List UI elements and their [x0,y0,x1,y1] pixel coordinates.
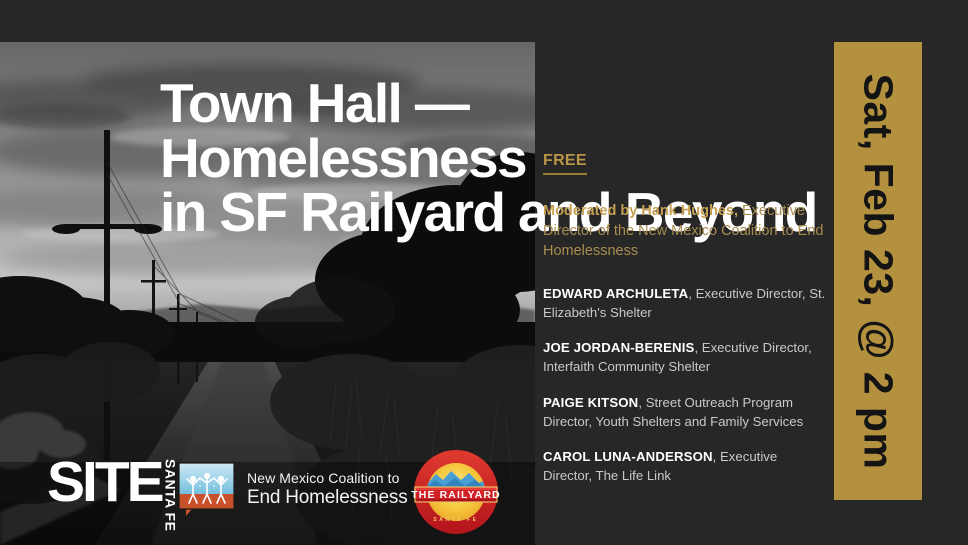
speaker-name: EDWARD ARCHULETA [543,286,688,301]
speaker-name: PAIGE KITSON [543,395,638,410]
logo-site-santa-fe: SITE SANTA FE [47,459,178,531]
speaker-separator: , [688,286,692,301]
moderator-separator: , [734,203,738,219]
speaker-item: EDWARD ARCHULETA, Executive Director, St… [543,285,828,322]
site-sublabel: SANTA FE [164,459,178,531]
nm-coalition-wordmark: New Mexico Coalition to End Homelessness [247,471,408,508]
event-details: FREE Moderated by Hank Hughes, Executive… [543,152,828,486]
logo-nm-coalition: New Mexico Coalition to End Homelessness [178,462,408,517]
sponsor-logo-row: SITE SANTA FE [0,445,535,545]
speaker-item: CAROL LUNA-ANDERSON, Executive Director,… [543,448,828,485]
admission-badge: FREE [543,152,587,175]
svg-text:SANTA FE: SANTA FE [433,517,478,523]
speaker-separator: , [694,340,698,355]
speaker-name: JOE JORDAN-BERENIS [543,340,694,355]
speaker-separator: , [638,395,642,410]
nm-coalition-mark-icon [178,462,235,517]
svg-text:THE RAILYARD: THE RAILYARD [411,489,500,501]
event-poster: Town Hall — Homelessness in SF Railyard … [0,0,968,545]
speaker-name: CAROL LUNA-ANDERSON [543,449,713,464]
moderator-block: Moderated by Hank Hughes, Executive Dire… [543,201,828,261]
nm-coalition-line-1: New Mexico Coalition to [247,471,408,487]
nm-coalition-line-2: End Homelessness [247,487,408,508]
speaker-separator: , [713,449,717,464]
speaker-item: PAIGE KITSON, Street Outreach Program Di… [543,394,828,431]
title-line-1: Town Hall — Homelessness [160,72,526,188]
date-banner: Sat, Feb 23, @ 2 pm [834,42,922,500]
moderator-name: Moderated by Hank Hughes [543,203,734,219]
logo-the-railyard: THE RAILYARD SANTA FE [411,447,501,537]
speaker-item: JOE JORDAN-BERENIS, Executive Director, … [543,339,828,376]
date-banner-text: Sat, Feb 23, @ 2 pm [855,73,902,469]
speaker-list: EDWARD ARCHULETA, Executive Director, St… [543,285,828,486]
site-wordmark: SITE [47,459,162,531]
